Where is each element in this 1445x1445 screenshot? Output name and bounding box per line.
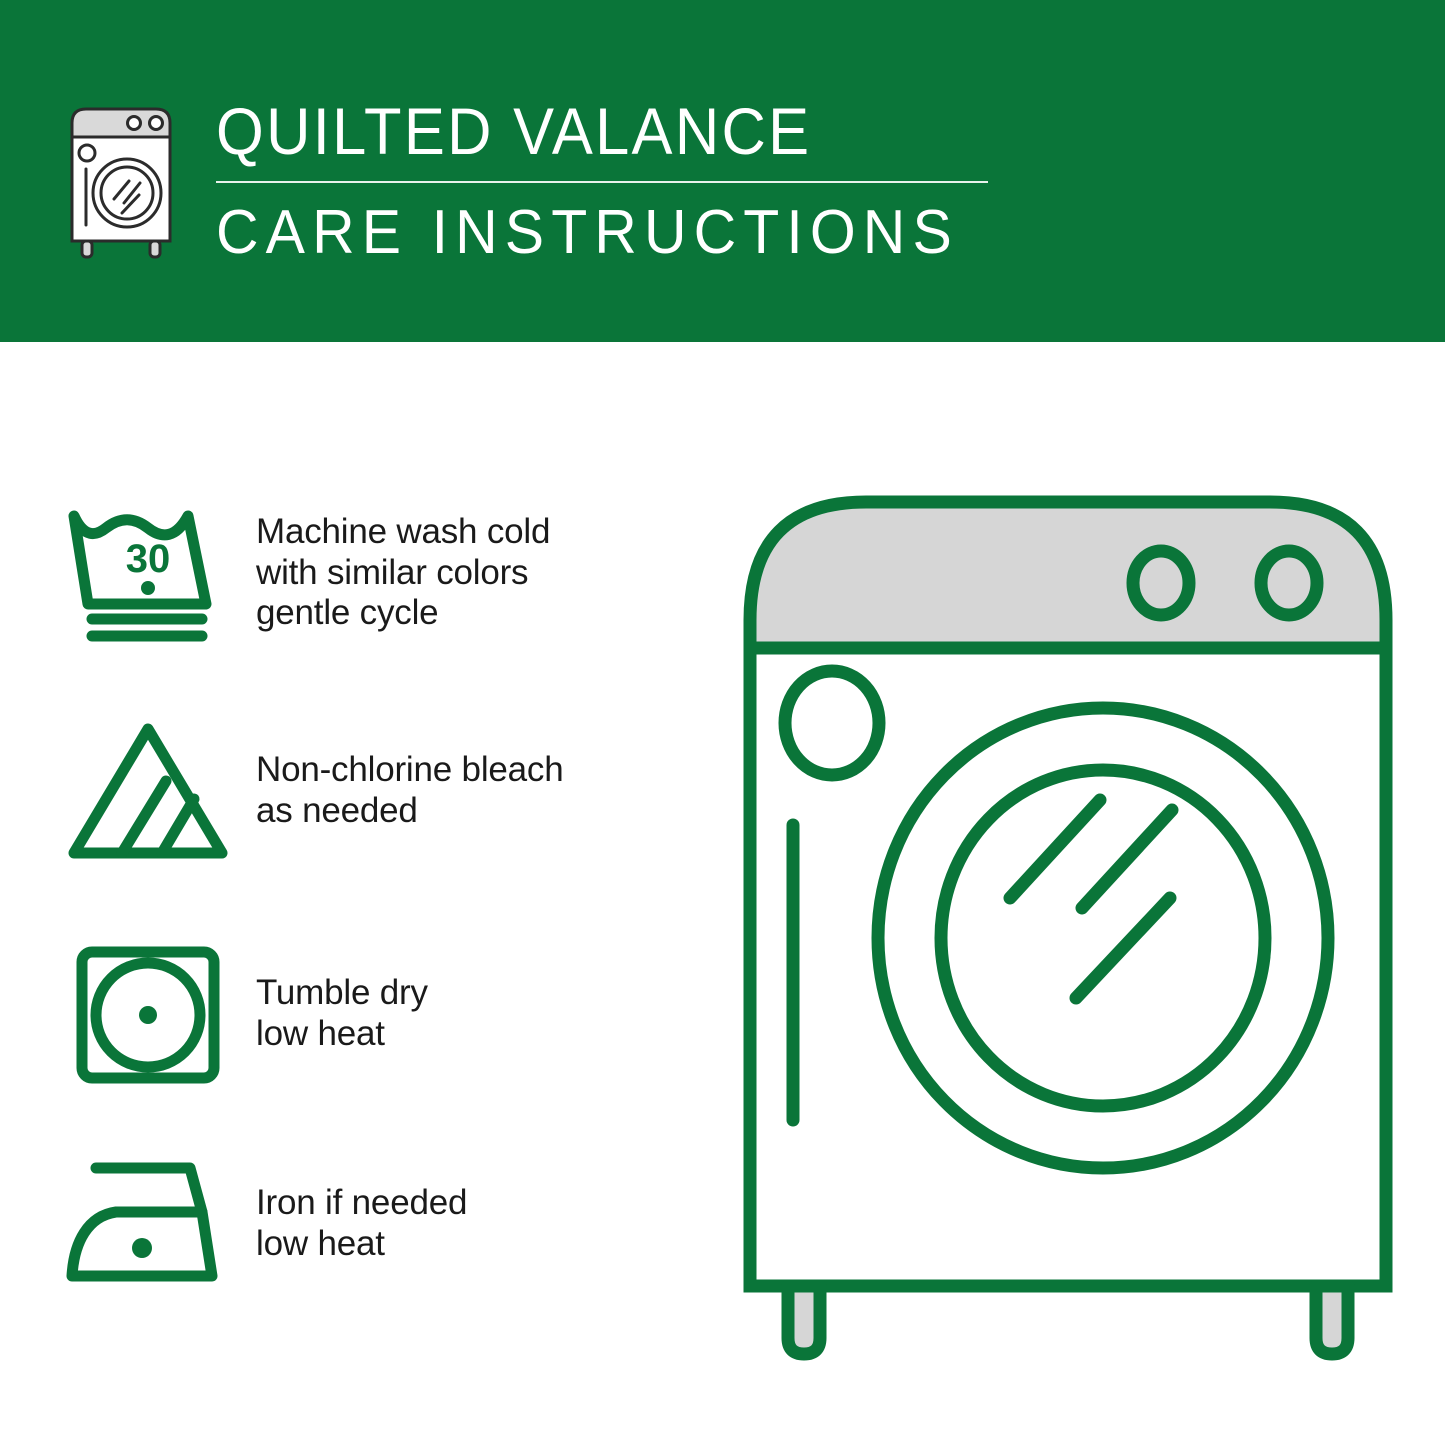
care-label: Tumble dry low heat	[256, 940, 428, 1054]
wash-basin-30-gentle-icon: 30	[62, 500, 234, 650]
care-instructions-list: 30 Machine wash cold with similar colors…	[0, 342, 660, 1445]
header-content: QUILTED VALANCE CARE INSTRUCTIONS	[62, 95, 998, 267]
care-row: Iron if needed low heat	[62, 1150, 622, 1300]
tumble-dry-low-heat-icon	[62, 940, 234, 1090]
iron-low-heat-icon	[62, 1150, 234, 1300]
care-row: Tumble dry low heat	[62, 940, 622, 1090]
page-subtitle: CARE INSTRUCTIONS	[216, 199, 959, 267]
non-chlorine-bleach-triangle-icon	[62, 717, 234, 867]
care-label: Iron if needed low heat	[256, 1150, 467, 1264]
washing-machine-icon	[62, 101, 180, 261]
large-washing-machine-illustration	[718, 470, 1418, 1370]
care-label: Machine wash cold with similar colors ge…	[256, 500, 550, 634]
title-divider	[216, 181, 988, 183]
care-row: 30 Machine wash cold with similar colors…	[62, 500, 622, 650]
header-banner: QUILTED VALANCE CARE INSTRUCTIONS	[0, 0, 1445, 342]
page-title: QUILTED VALANCE	[216, 95, 943, 167]
care-label: Non-chlorine bleach as needed	[256, 717, 564, 831]
wash-temperature-label: 30	[126, 537, 171, 581]
header-title-block: QUILTED VALANCE CARE INSTRUCTIONS	[216, 95, 998, 267]
care-row: Non-chlorine bleach as needed	[62, 717, 622, 867]
